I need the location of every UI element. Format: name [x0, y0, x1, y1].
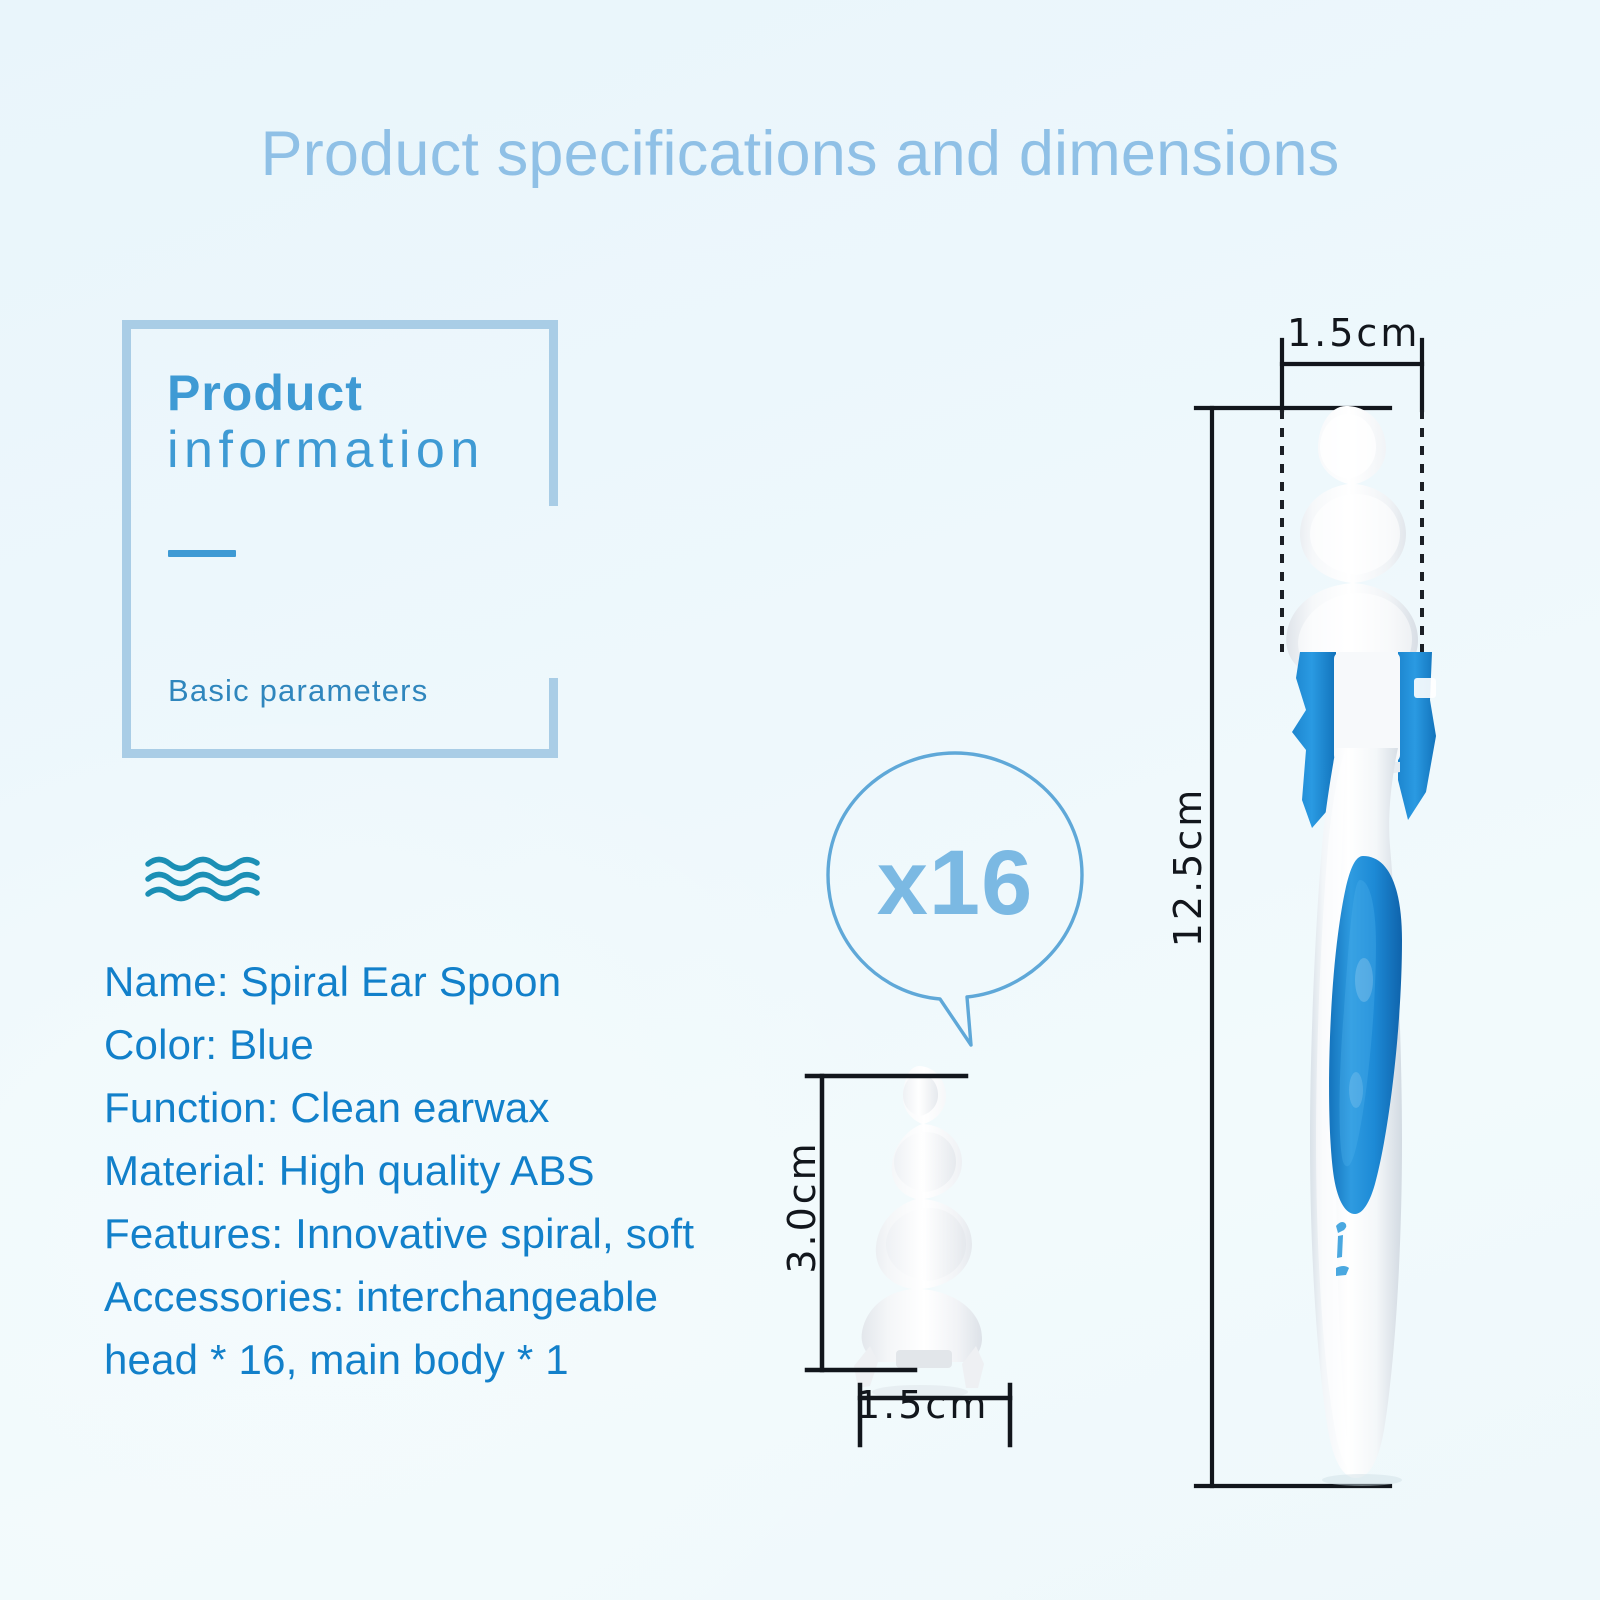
quantity-callout-bubble: x16	[820, 745, 1090, 1055]
info-box-heading-light: information	[167, 424, 485, 476]
info-box-subtitle: Basic parameters	[168, 675, 428, 706]
spec-line-color: Color: Blue	[104, 1013, 804, 1076]
head-height-label: 3.0cm	[780, 1127, 824, 1287]
box-border-bottom	[122, 749, 558, 758]
info-box-divider	[168, 550, 236, 557]
spiral-head-shape	[862, 1066, 982, 1362]
spiral-head-shape-large	[1286, 406, 1418, 670]
spec-line-function: Function: Clean earwax	[104, 1076, 804, 1139]
product-shadow	[1322, 1474, 1402, 1486]
info-box-heading-bold: Product	[167, 368, 363, 418]
box-border-right-top	[549, 320, 558, 506]
spec-line-name: Name: Spiral Ear Spoon	[104, 950, 804, 1013]
specification-list: Name: Spiral Ear Spoon Color: Blue Funct…	[104, 950, 804, 1391]
box-border-left	[122, 320, 131, 758]
spec-line-accessories: Accessories: interchangeable	[104, 1265, 804, 1328]
quantity-label: x16	[820, 837, 1090, 929]
spec-line-features: Features: Innovative spiral, soft	[104, 1202, 804, 1265]
wave-lines-icon	[145, 853, 260, 905]
infographic-page: Product specifications and dimensions Pr…	[0, 0, 1600, 1600]
tool-height-label: 12.5cm	[1166, 777, 1210, 957]
tool-width-label: 1.5cm	[1287, 311, 1420, 355]
spec-line-accessories-cont: head * 16, main body * 1	[104, 1328, 804, 1391]
product-information-box: Product information Basic parameters	[122, 320, 558, 758]
page-title: Product specifications and dimensions	[0, 118, 1600, 190]
box-border-top	[122, 320, 558, 329]
head-width-label: 1.5cm	[856, 1383, 989, 1427]
box-border-right-bottom	[549, 678, 558, 758]
spec-line-material: Material: High quality ABS	[104, 1139, 804, 1202]
